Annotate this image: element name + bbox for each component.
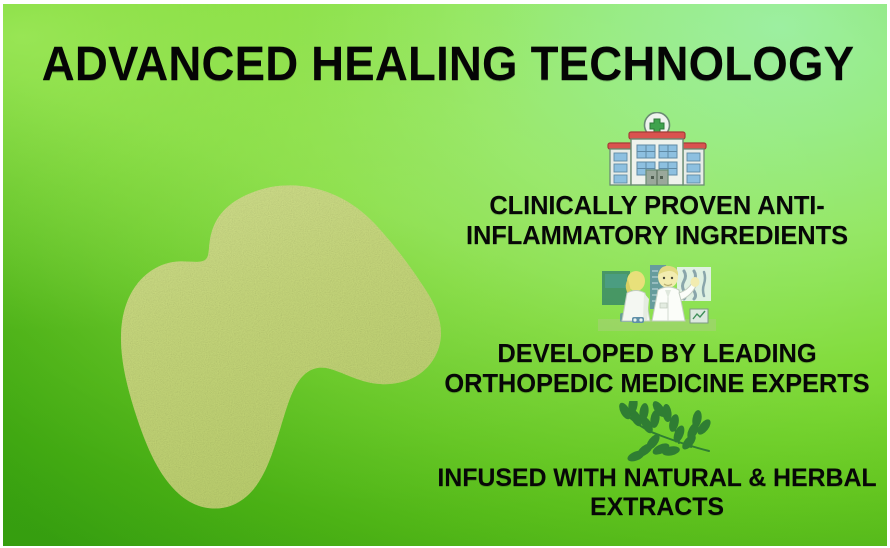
feature-item-natural-herbal: INFUSED WITH NATURAL & HERBAL EXTRACTS [427,402,887,522]
page-title: ADVANCED HEALING TECHNOLOGY [25,40,871,90]
feature-label: CLINICALLY PROVEN ANTI- INFLAMMATORY ING… [427,192,887,251]
feature-label: INFUSED WITH NATURAL & HERBAL EXTRACTS [427,464,887,522]
feature-label-line: ORTHOPEDIC MEDICINE EXPERTS [427,370,887,400]
feature-label-line: INFUSED WITH NATURAL & HERBAL [427,464,887,493]
feature-label-line: CLINICALLY PROVEN ANTI- [427,192,887,222]
product-patch-image [75,174,451,510]
patch-shape [121,185,441,508]
feature-item-clinically-proven: CLINICALLY PROVEN ANTI- INFLAMMATORY ING… [427,112,887,251]
feature-label-line: DEVELOPED BY LEADING [427,340,887,370]
feature-label-line: EXTRACTS [427,493,887,522]
feature-label-line: INFLAMMATORY INGREDIENTS [427,222,887,252]
feature-item-developed-by-experts: DEVELOPED BY LEADING ORTHOPEDIC MEDICINE… [427,256,887,399]
hospital-building-icon [427,112,887,188]
doctors-consulting-xray-icon [427,256,887,332]
herbal-leaf-branch-icon [427,402,887,462]
feature-label: DEVELOPED BY LEADING ORTHOPEDIC MEDICINE… [427,340,887,399]
advertisement-banner: ADVANCED HEALING TECHNOLOGY [0,0,890,548]
